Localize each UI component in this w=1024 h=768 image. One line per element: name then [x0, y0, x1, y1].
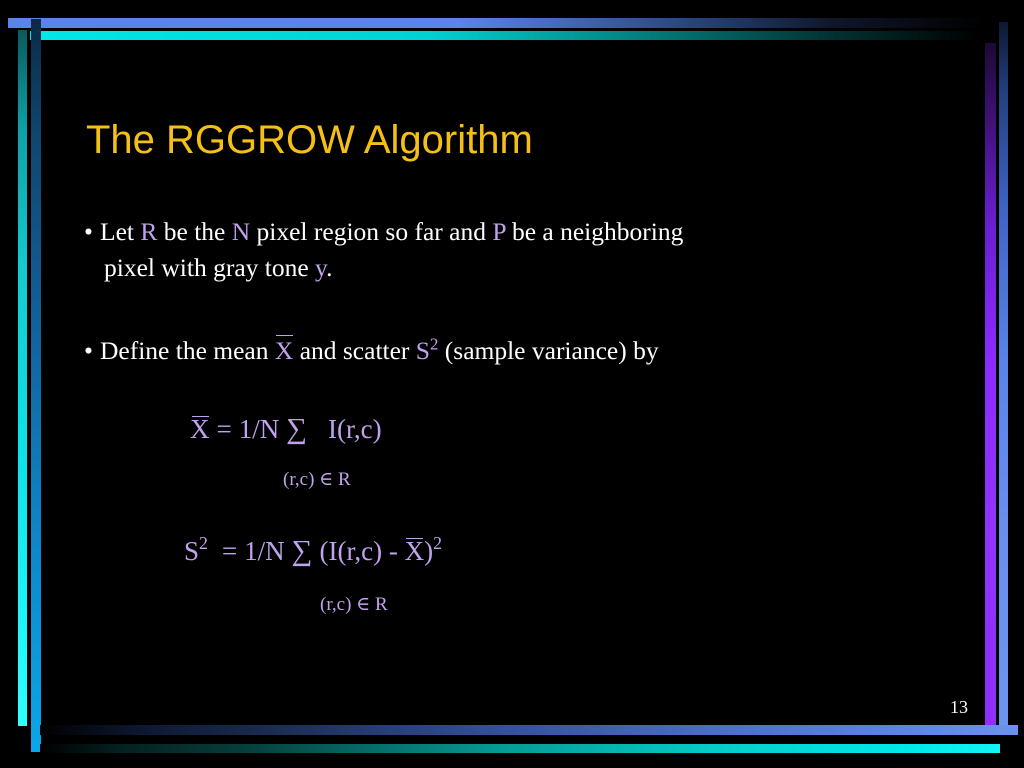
bullet-1-text-seg-2: be the	[157, 217, 231, 246]
bullet-1-line2-seg-2: .	[326, 253, 332, 282]
eq2-operand-exponent: 2	[433, 533, 442, 553]
bullet-1-line-1: •Let R be the N pixel region so far and …	[84, 217, 683, 246]
eq2-operand-xbar: X	[405, 536, 425, 567]
bullet-1-var-N: N	[232, 217, 250, 246]
overbar-icon	[406, 538, 423, 540]
bullet-1-var-P: P	[492, 217, 505, 246]
bullet-marker-icon: •	[84, 214, 100, 250]
bullet-1-text-seg-3: pixel region so far and	[250, 217, 492, 246]
bullet-2-var-xbar: X	[275, 333, 293, 369]
eq2-operand-open: (I(r,c) -	[319, 536, 404, 566]
equation-scatter: S2=1/N∑(I(r,c) - X)2	[184, 535, 442, 568]
bullet-2-text-seg-2: and scatter	[293, 336, 415, 365]
eq1-operand: I(r,c)	[328, 414, 382, 444]
bullet-item-1: •Let R be the N pixel region so far and …	[84, 214, 683, 286]
bullet-2-text-seg-1: Define the mean	[100, 336, 275, 365]
eq1-summation-icon: ∑	[286, 413, 307, 445]
bullet-1-var-R: R	[140, 217, 157, 246]
slide-canvas: The RGGROW Algorithm •Let R be the N pix…	[0, 0, 1024, 768]
frame-bar-left-cyan	[18, 30, 27, 726]
overbar-icon	[276, 335, 292, 337]
bullet-1-var-y: y	[315, 253, 326, 282]
frame-bar-bottom-blue	[40, 725, 1018, 735]
slide-title: The RGGROW Algorithm	[86, 118, 533, 163]
bullet-1-text-seg-1: Let	[100, 217, 140, 246]
eq1-lhs-glyph: X	[190, 414, 210, 444]
page-number: 13	[950, 697, 968, 718]
frame-bar-bottom-cyan	[40, 744, 1000, 753]
eq2-summation-icon: ∑	[292, 535, 313, 567]
bullet-2-text-seg-3: (sample variance) by	[438, 336, 658, 365]
frame-bar-right-purple	[985, 43, 996, 733]
bullet-2-var-x-glyph: X	[275, 336, 293, 365]
eq2-equals-sign: =	[222, 536, 237, 566]
bullet-2-var-S: S	[416, 336, 430, 365]
bullet-1-line-2: pixel with gray tone y.	[84, 250, 683, 286]
overbar-icon	[192, 416, 209, 418]
eq1-lhs-xbar: X	[190, 414, 210, 445]
eq1-coefficient: 1/N	[239, 414, 280, 444]
bullet-1-line2-seg-1: pixel with gray tone	[104, 253, 315, 282]
equation-mean: X=1/N∑I(r,c)	[190, 413, 382, 446]
equation-scatter-subscript: (r,c) ∈ R	[320, 593, 388, 616]
eq2-coefficient: 1/N	[244, 536, 285, 566]
bullet-1-text-seg-4: be a neighboring	[506, 217, 684, 246]
equation-mean-subscript: (r,c) ∈ R	[283, 468, 351, 491]
eq2-operand-x-glyph: X	[405, 536, 425, 566]
frame-bar-left-blue	[31, 19, 41, 752]
bullet-item-2: •Define the mean X and scatter S2 (sampl…	[84, 333, 659, 369]
eq2-operand-close: )	[424, 536, 433, 566]
bullet-marker-icon: •	[84, 333, 100, 369]
eq1-equals-sign: =	[217, 414, 232, 444]
eq2-lhs-glyph: S	[184, 536, 199, 566]
frame-bar-top-cyan	[30, 31, 980, 40]
frame-bar-top-blue	[8, 18, 986, 28]
frame-bar-right-blue	[999, 22, 1008, 734]
eq2-lhs-exponent: 2	[199, 533, 208, 553]
